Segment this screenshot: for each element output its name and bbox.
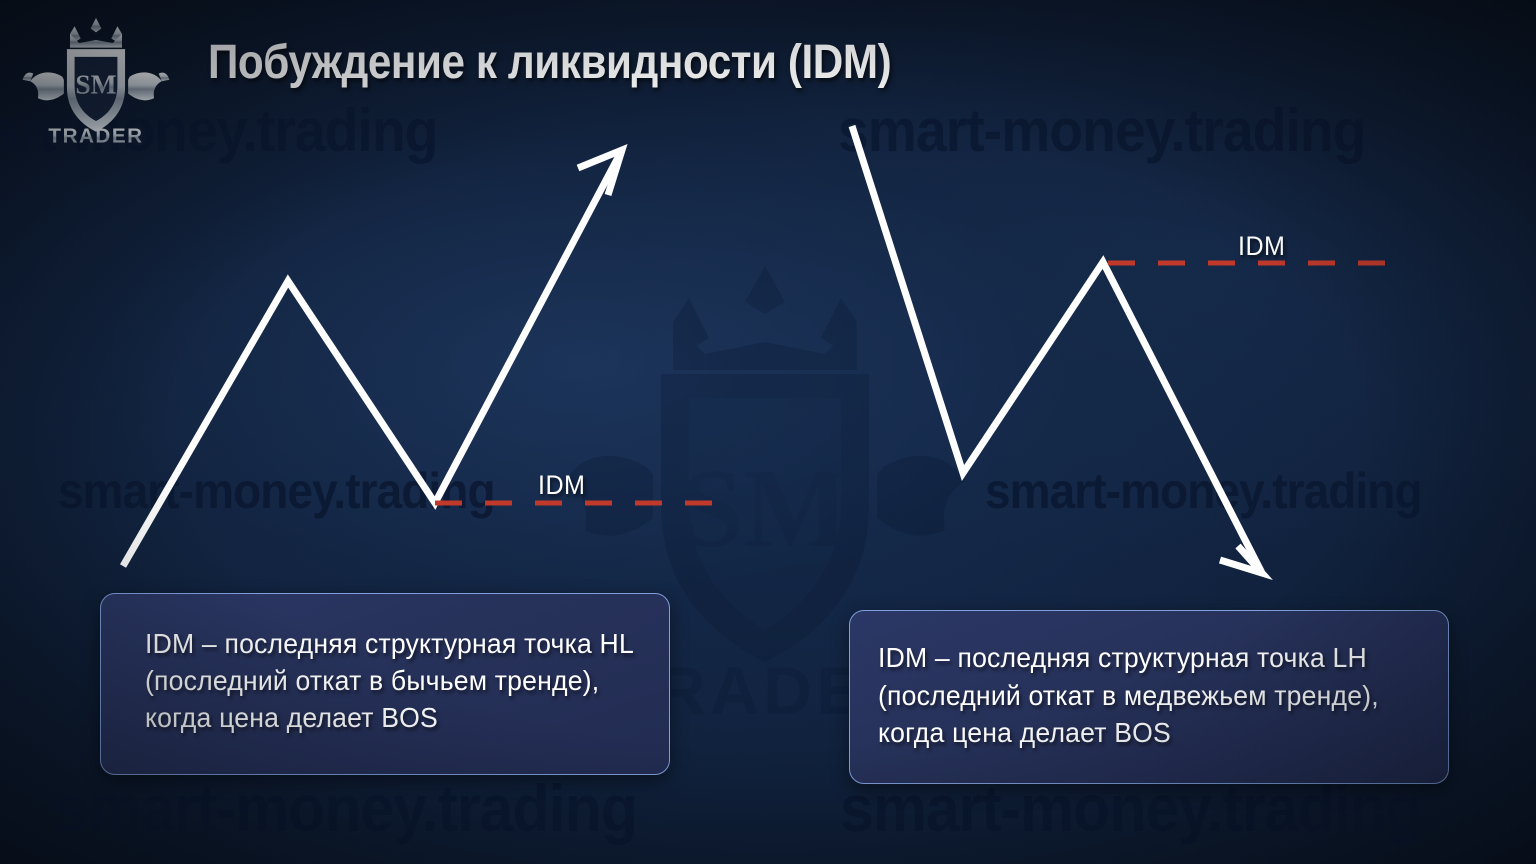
caption-box-bearish: IDM – последняя структурная точка LH (по… [849,610,1449,784]
page-title: Побуждение к ликвидности (IDM) [208,38,891,88]
slide-root: smart-money.trading smart-money.trading … [0,0,1536,864]
brand-logo: SM TRADER [18,14,174,144]
watermark-text: smart-money.trading [55,770,637,846]
bullish-arrowhead [578,150,622,195]
crown-icon [70,18,122,48]
svg-text:SM: SM [681,447,849,571]
idm-label-right: IDM [1238,231,1285,262]
bearish-price-line [852,126,1262,573]
bull-left-icon [23,72,64,100]
bullish-price-line [123,150,622,566]
logo-monogram: SM [75,69,116,100]
watermark-text: smart-money.trading [838,96,1365,165]
watermark-text: smart-money.trading [58,462,495,520]
caption-text-bullish: IDM – последняя структурная точка HL (по… [145,626,639,737]
caption-box-bullish: IDM – последняя структурная точка HL (по… [100,593,670,775]
bull-right-icon [128,72,169,100]
logo-wordmark: TRADER [48,124,143,144]
idm-label-left: IDM [538,470,585,501]
bearish-arrowhead [1220,546,1262,573]
watermark-text: smart-money.trading [985,462,1422,520]
caption-text-bearish: IDM – последняя структурная точка LH (по… [878,639,1424,752]
